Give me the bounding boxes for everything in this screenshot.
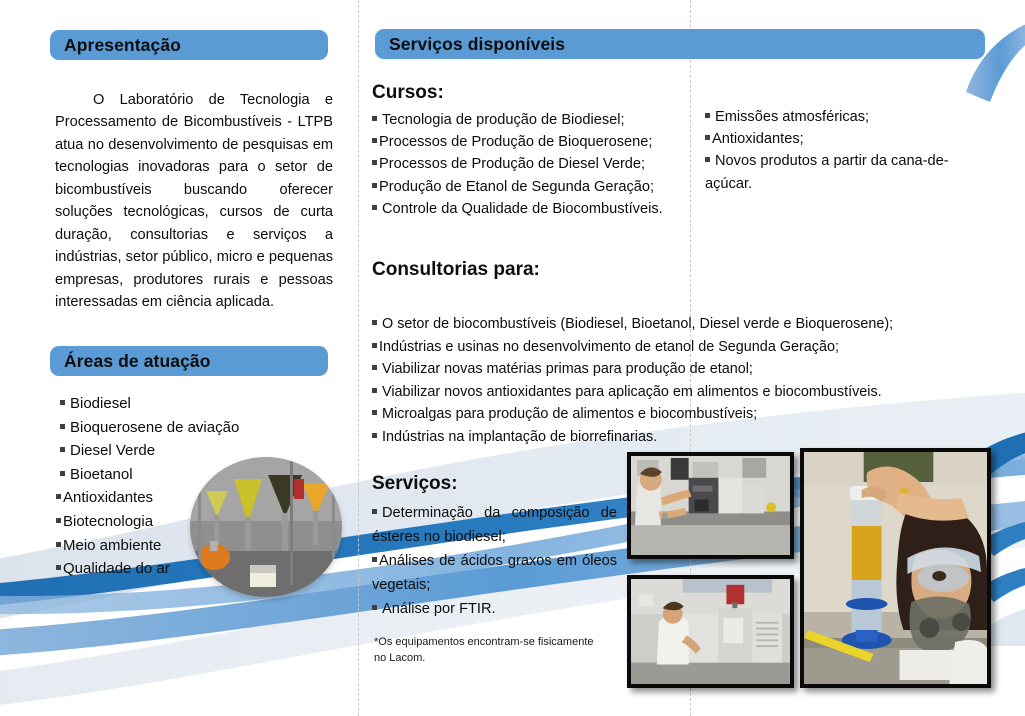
list-item-label: Viabilizar novas matérias primas para pr… xyxy=(382,361,753,377)
bullet-square-icon xyxy=(372,205,377,210)
bullet-square-icon xyxy=(372,183,377,188)
photo-spectrophotometer xyxy=(627,452,794,559)
banner-apresentacao-label: Apresentação xyxy=(64,35,181,56)
footnote-equipamentos: *Os equipamentos encontram-se fisicament… xyxy=(374,634,604,666)
apresentacao-section: O Laboratório de Tecnologia e Processame… xyxy=(55,74,333,328)
bullet-square-icon xyxy=(60,424,65,429)
list-item-label: Meio ambiente xyxy=(63,537,161,554)
bullet-square-icon xyxy=(372,410,377,415)
banner-servicos-disponiveis: Serviços disponíveis xyxy=(375,29,985,59)
list-item-label: Análise por FTIR. xyxy=(382,601,496,617)
list-item: Bioquerosene de aviação xyxy=(60,416,310,440)
list-item-label: Produção de Etanol de Segunda Geração; xyxy=(379,179,654,195)
bullet-square-icon xyxy=(60,447,65,452)
list-item: Indústrias e usinas no desenvolvimento d… xyxy=(372,336,982,359)
list-item: Determinação da composição de ésteres no… xyxy=(372,501,617,549)
list-item: Tecnologia de produção de Biodiesel; xyxy=(372,109,692,131)
list-item-label: Tecnologia de produção de Biodiesel; xyxy=(382,112,625,128)
list-item-label: Diesel Verde xyxy=(70,442,155,459)
servicos-list: Determinação da composição de ésteres no… xyxy=(372,501,617,621)
list-item-label: Processos de Produção de Bioquerosene; xyxy=(379,134,652,150)
banner-areas-de-atuacao: Áreas de atuação xyxy=(50,346,328,376)
list-item: Microalgas para produção de alimentos e … xyxy=(372,403,982,426)
list-item-label: Antioxidantes xyxy=(63,489,153,506)
list-item: O setor de biocombustíveis (Biodiesel, B… xyxy=(372,313,982,336)
bullet-square-icon xyxy=(372,320,377,325)
list-item: Controle da Qualidade de Biocombustíveis… xyxy=(372,198,692,220)
list-item: Processos de Produção de Diesel Verde; xyxy=(372,153,692,175)
bullet-square-icon xyxy=(56,518,61,523)
bullet-square-icon xyxy=(56,494,61,499)
bullet-square-icon xyxy=(60,400,65,405)
cursos-heading: Cursos: xyxy=(372,82,444,104)
bullet-square-icon xyxy=(705,135,710,140)
bullet-square-icon xyxy=(372,365,377,370)
bullet-square-icon xyxy=(56,542,61,547)
list-item-label: Novos produtos a partir da cana-de-açúca… xyxy=(705,153,949,191)
list-item-label: Viabilizar novos antioxidantes para apli… xyxy=(382,384,882,400)
brochure-page: Apresentação O Laboratório de Tecnologia… xyxy=(0,0,1025,716)
bullet-square-icon xyxy=(372,605,377,610)
consultorias-list: O setor de biocombustíveis (Biodiesel, B… xyxy=(372,313,982,449)
list-item: Novos produtos a partir da cana-de-açúca… xyxy=(705,150,950,194)
banner-servicos-label: Serviços disponíveis xyxy=(389,34,565,55)
list-item: Viabilizar novas matérias primas para pr… xyxy=(372,358,982,381)
bullet-square-icon xyxy=(56,565,61,570)
list-item-label: Determinação da composição de ésteres no… xyxy=(372,505,617,545)
list-item: Viabilizar novos antioxidantes para apli… xyxy=(372,381,982,404)
cursos-list-left: Tecnologia de produção de Biodiesel; Pro… xyxy=(372,109,692,220)
list-item: Análises de ácidos graxos em óleos veget… xyxy=(372,549,617,597)
list-item-label: Bioetanol xyxy=(70,466,133,483)
list-item-label: Emissões atmosféricas; xyxy=(715,109,869,125)
banner-apresentacao: Apresentação xyxy=(50,30,328,60)
photo-graduated-cylinder xyxy=(800,448,991,688)
bullet-square-icon xyxy=(372,388,377,393)
list-item: Indústrias na implantação de biorrefinar… xyxy=(372,426,982,449)
fold-guide-left xyxy=(358,0,359,716)
list-item-label: Qualidade do ar xyxy=(63,560,170,577)
bullet-square-icon xyxy=(372,433,377,438)
bullet-square-icon xyxy=(372,116,377,121)
bullet-square-icon xyxy=(372,160,377,165)
servicos-heading: Serviços: xyxy=(372,473,458,495)
list-item-label: Biotecnologia xyxy=(63,513,153,530)
list-item: Biodiesel xyxy=(60,392,310,416)
list-item-label: O setor de biocombustíveis (Biodiesel, B… xyxy=(382,316,893,332)
bullet-square-icon xyxy=(705,113,710,118)
bullet-square-icon xyxy=(372,557,377,562)
bullet-square-icon xyxy=(60,471,65,476)
list-item-label: Microalgas para produção de alimentos e … xyxy=(382,406,757,422)
list-item: Emissões atmosféricas; xyxy=(705,106,950,128)
list-item-label: Processos de Produção de Diesel Verde; xyxy=(379,156,645,172)
bullet-square-icon xyxy=(372,138,377,143)
cursos-list-right: Emissões atmosféricas; Antioxidantes; No… xyxy=(705,106,950,195)
apresentacao-paragraph: O Laboratório de Tecnologia e Processame… xyxy=(55,89,333,314)
bullet-square-icon xyxy=(705,157,710,162)
bullet-square-icon xyxy=(372,509,377,514)
list-item: Antioxidantes; xyxy=(705,128,950,150)
list-item: Análise por FTIR. xyxy=(372,597,617,621)
lab-glassware-circle-photo xyxy=(190,457,342,597)
list-item-label: Antioxidantes; xyxy=(712,131,804,147)
photo-gas-chromatograph xyxy=(627,575,794,688)
bullet-square-icon xyxy=(372,343,377,348)
list-item: Processos de Produção de Bioquerosene; xyxy=(372,131,692,153)
list-item-label: Bioquerosene de aviação xyxy=(70,419,239,436)
consultorias-heading: Consultorias para: xyxy=(372,259,540,281)
banner-areas-label: Áreas de atuação xyxy=(64,351,211,372)
list-item-label: Controle da Qualidade de Biocombustíveis… xyxy=(382,201,663,217)
list-item: Produção de Etanol de Segunda Geração; xyxy=(372,176,692,198)
list-item-label: Biodiesel xyxy=(70,395,131,412)
list-item-label: Indústrias e usinas no desenvolvimento d… xyxy=(379,339,839,355)
list-item-label: Indústrias na implantação de biorrefinar… xyxy=(382,429,657,445)
list-item-label: Análises de ácidos graxos em óleos veget… xyxy=(372,553,617,593)
